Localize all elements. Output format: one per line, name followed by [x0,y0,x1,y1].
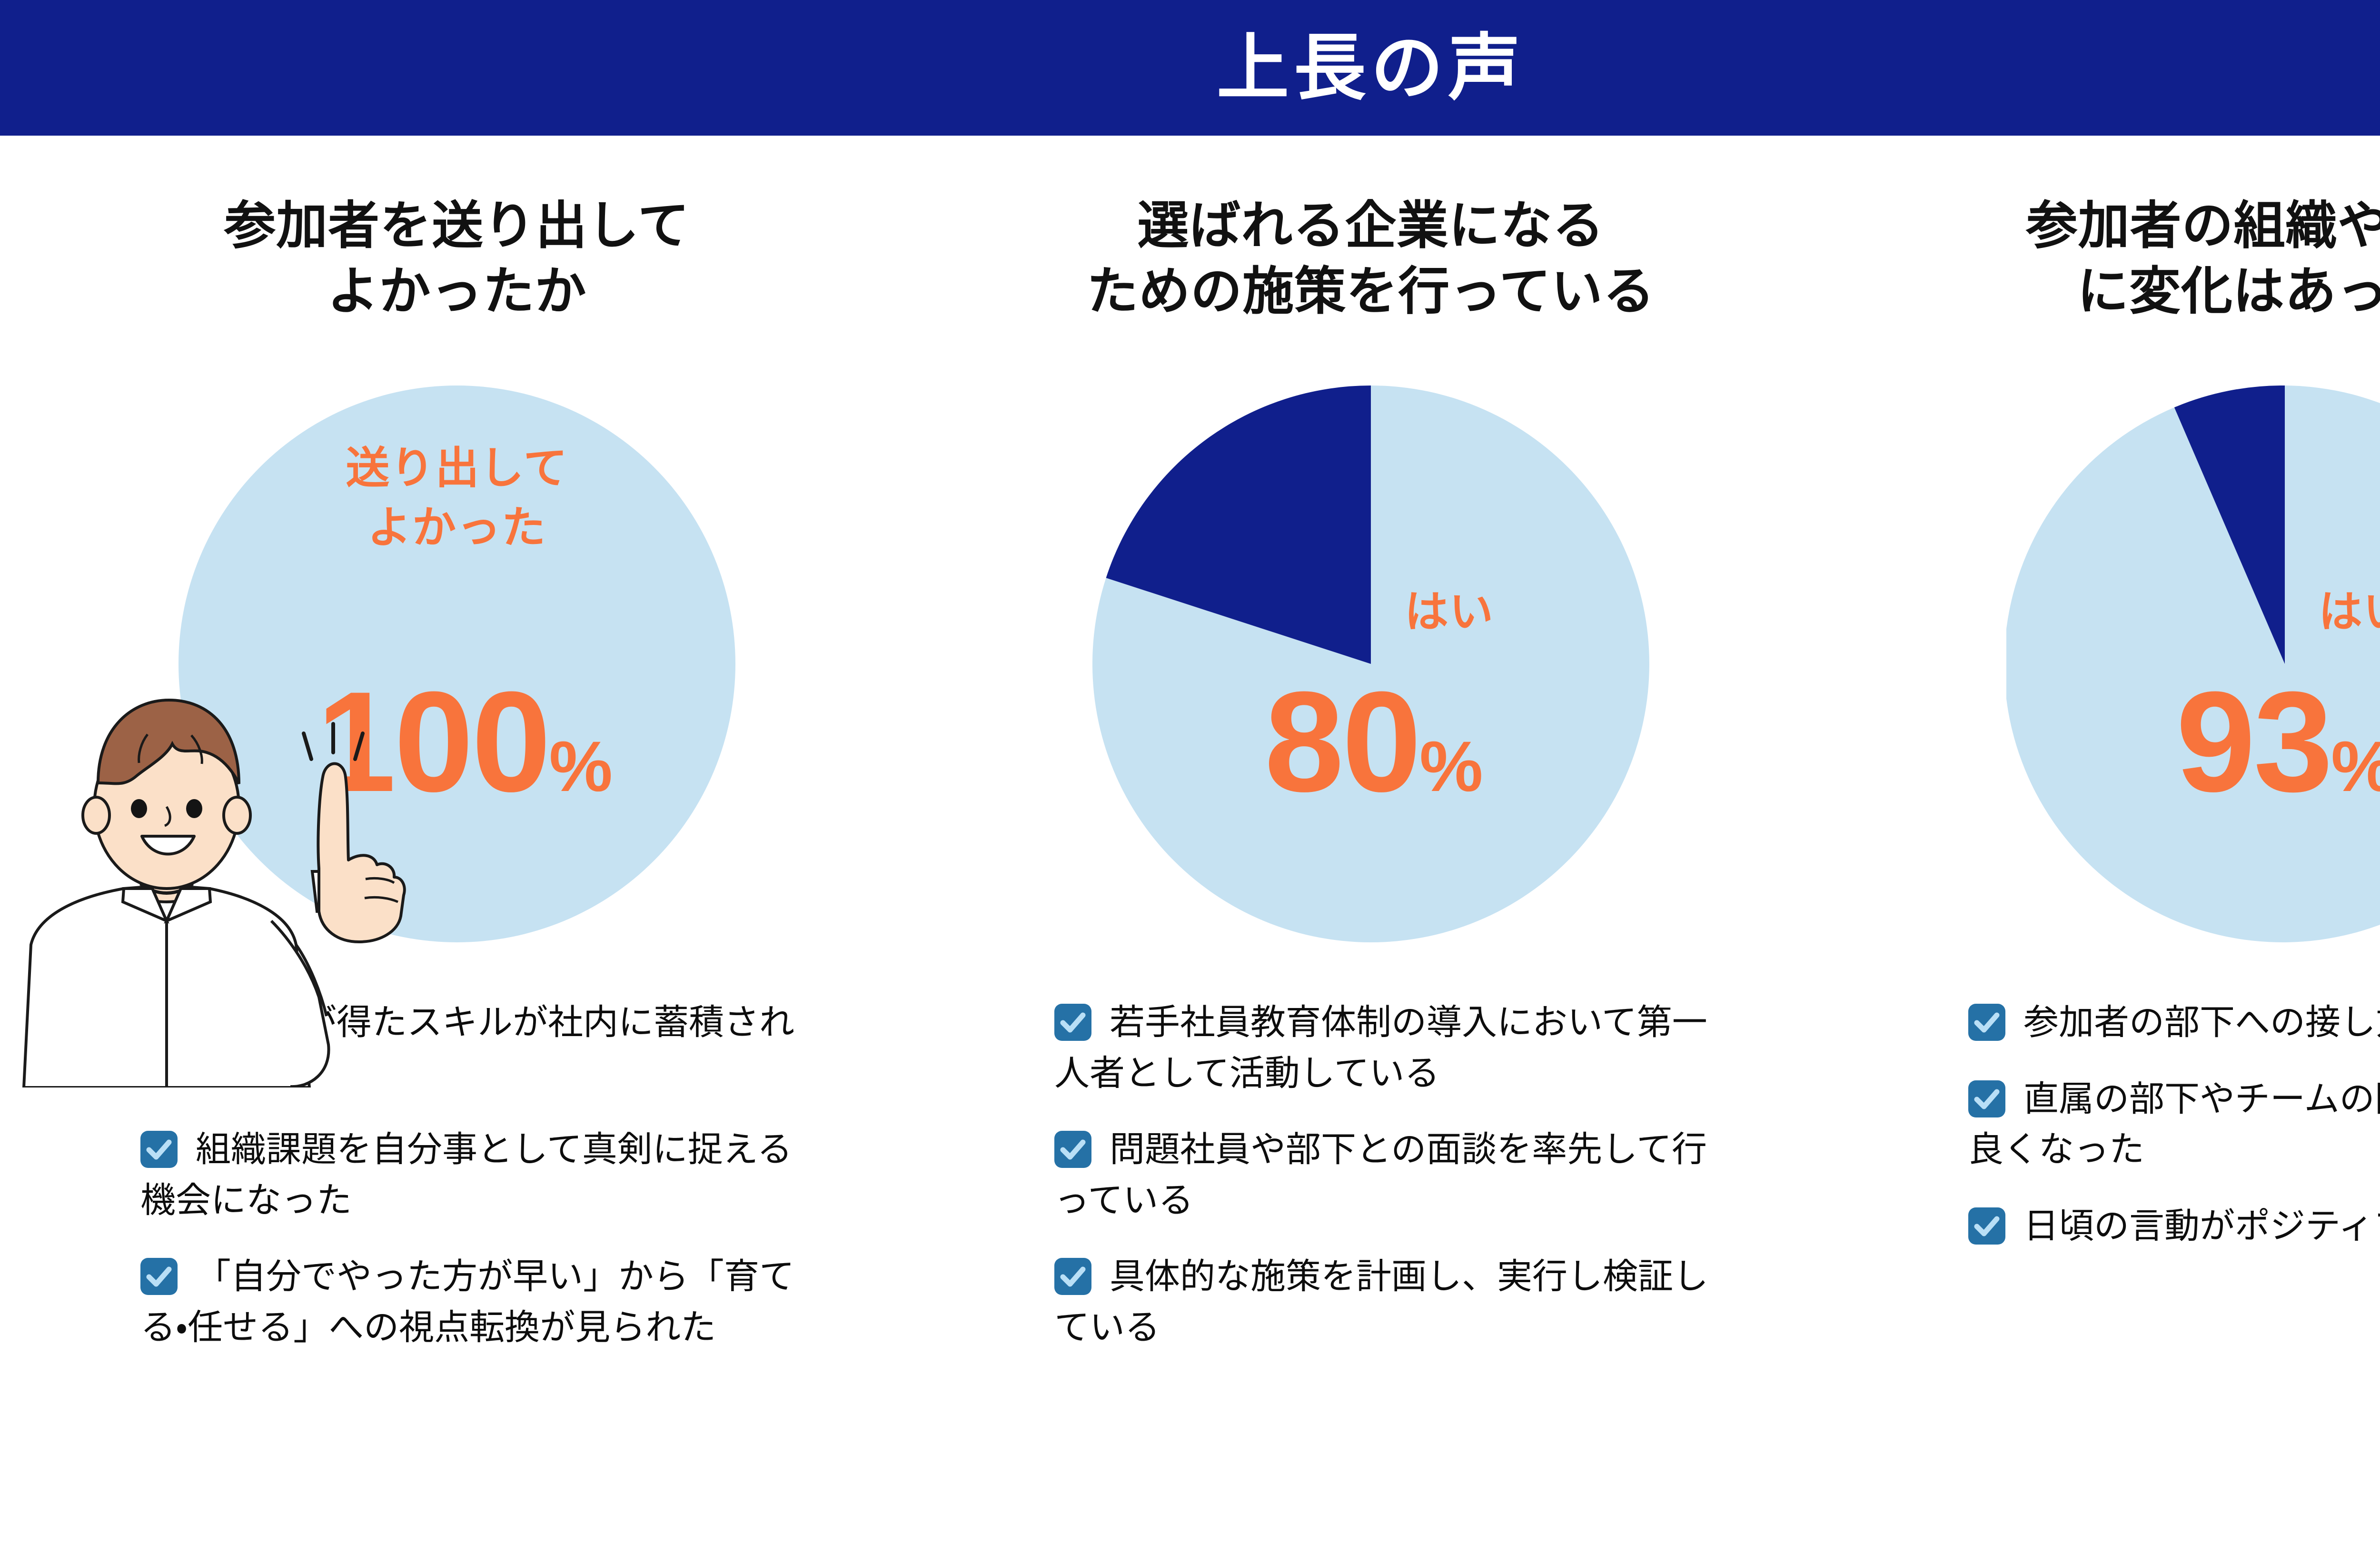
bullet-list: 若手社員教育体制の導入において第一人者として活動している 問題社員や部下との面談… [1054,997,1716,1353]
check-icon [140,1258,178,1295]
heading-line-1: 選ばれる企業になる [914,193,1828,258]
column-heading: 参加者を送り出して よかったか [0,193,914,324]
list-item-text: 具体的な施策を計画し、実行し検証している [1054,1256,1708,1347]
check-icon [1054,1258,1091,1295]
check-icon [140,1131,178,1168]
percent-number: 80 [1264,662,1419,821]
list-item-text: 直属の部下やチームの関係性が大幅に良くなった [1968,1079,2380,1169]
list-item: 組織課題を自分事として真剣に捉える機会になった [140,1124,802,1226]
percent-number: 100 [317,662,549,821]
list-item-text: 日頃の言動がポジティブに変化した [2023,1206,2380,1245]
pie-chart-1: 送り出して よかった 100% [178,385,735,942]
list-item-text: 若手社員教育体制の導入において第一人者として活動している [1054,1002,1707,1093]
check-icon [1968,1207,2005,1245]
heading-line-2: に変化はあったか [1828,258,2380,324]
check-icon [1054,1004,1091,1041]
percent-value: 100% [193,676,735,807]
heading-line-2: ための施策を行っている [914,258,1828,324]
list-item: 日頃の言動がポジティブに変化した [1968,1201,2380,1252]
percent-number: 93 [2176,662,2331,821]
percent-sign: % [549,726,612,806]
heading-line-1: 参加者を送り出して [0,193,914,258]
check-icon [1968,1004,2005,1041]
list-item: 「自分でやった方が早い」から「育てる・任せる」への視点転換が見られた [140,1251,802,1353]
percent-sign: % [1419,726,1482,806]
columns-container: 参加者を送り出して よかったか 送り出して よかった 100% 参加者が得たスキ… [0,136,2380,1542]
list-item: 参加者が得たスキルが社内に蓄積された [140,997,802,1098]
list-item-text: 問題社員や部下との面談を率先して行っている [1054,1129,1707,1220]
column-satisfaction: 参加者を送り出して よかったか 送り出して よかった 100% 参加者が得たスキ… [0,136,914,1542]
page-title: 上長の声 [1217,32,1525,104]
list-item-text: 「自分でやった方が早い」から「育てる・任せる」への視点転換が見られた [140,1256,794,1347]
list-item: 若手社員教育体制の導入において第一人者として活動している [1054,997,1716,1098]
list-item: 直属の部下やチームの関係性が大幅に良くなった [1968,1074,2380,1175]
pie-chart-2: はい 80% [1092,385,1649,942]
percent-value: 80% [1097,676,1649,807]
percent-value: 93% [2006,676,2380,807]
list-item-text: 参加者の部下への接し方が変化した [2023,1002,2380,1042]
list-item: 具体的な施策を計画し、実行し検証している [1054,1251,1716,1353]
list-item: 問題社員や部下との面談を率先して行っている [1054,1124,1716,1226]
list-item-text: 参加者が得たスキルが社内に蓄積された [140,1002,794,1093]
pie-chart-3: はい 93% [2006,385,2380,942]
check-icon [140,1004,178,1041]
column-measures: 選ばれる企業になる ための施策を行っている はい 80% 若手社員教育体制の導入… [914,136,1828,1542]
check-icon [1054,1131,1091,1168]
heading-line-1: 参加者の組織やチーム [1828,193,2380,258]
check-icon [1968,1080,2005,1117]
column-change: 参加者の組織やチーム に変化はあったか はい 93% 参加者の部下への接し方が変… [1828,136,2380,1542]
percent-sign: % [2331,726,2380,806]
list-item: 参加者の部下への接し方が変化した [1968,997,2380,1048]
column-heading: 参加者の組織やチーム に変化はあったか [1828,193,2380,324]
bullet-list: 参加者が得たスキルが社内に蓄積された 組織課題を自分事として真剣に捉える機会にな… [140,997,802,1353]
header-banner: 上長の声 [0,0,2380,136]
bullet-list: 参加者の部下への接し方が変化した 直属の部下やチームの関係性が大幅に良くなった … [1968,997,2380,1251]
heading-line-2: よかったか [0,258,914,324]
list-item-text: 組織課題を自分事として真剣に捉える機会になった [140,1129,793,1220]
column-heading: 選ばれる企業になる ための施策を行っている [914,193,1828,324]
